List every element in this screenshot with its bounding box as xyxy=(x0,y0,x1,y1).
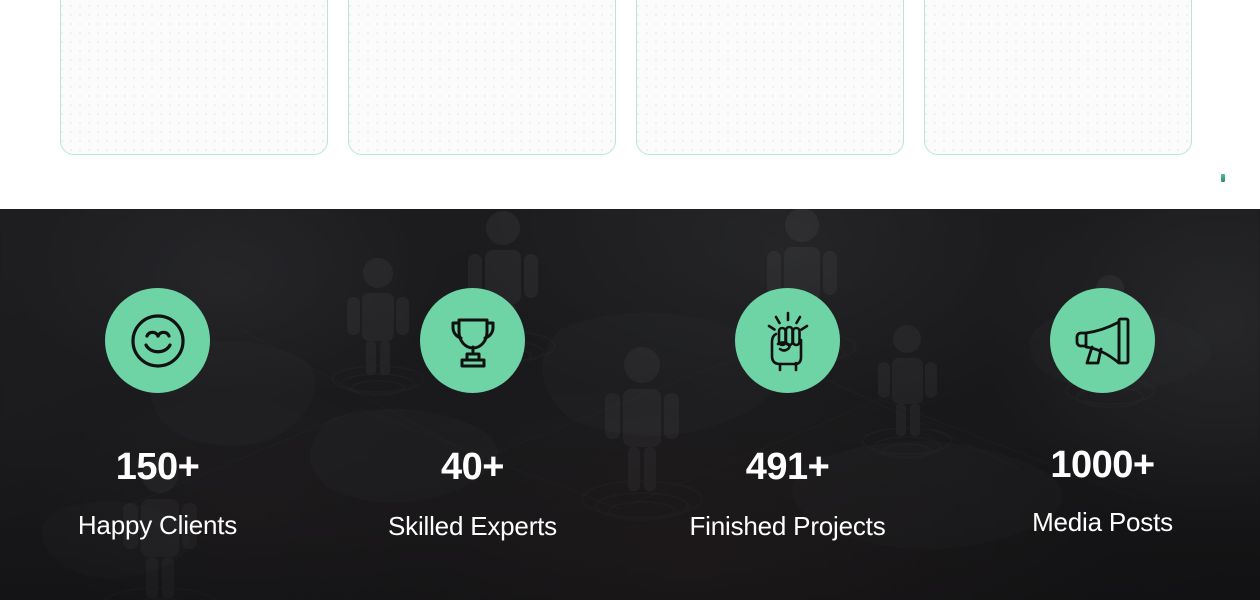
raised-fist-icon xyxy=(758,310,818,372)
trophy-icon xyxy=(442,310,504,372)
stats-section: 150+ Happy Clients xyxy=(0,209,1260,600)
feature-card-voice-broadcast[interactable]: Send pre-recorded voice messages; recipi… xyxy=(60,0,328,155)
stat-label: Skilled Experts xyxy=(388,513,557,539)
stat-icon-circle xyxy=(420,288,525,393)
stat-icon-circle xyxy=(105,288,210,393)
stats-row: 150+ Happy Clients xyxy=(0,209,1260,600)
stat-number: 150+ xyxy=(116,448,200,486)
stat-icon-circle xyxy=(1050,288,1155,393)
stat-label: Media Posts xyxy=(1032,509,1173,535)
stat-item-media-posts: 1000+ Media Posts xyxy=(945,209,1260,600)
page-root: Send pre-recorded voice messages; recipi… xyxy=(0,0,1260,600)
feature-cards-row: Send pre-recorded voice messages; recipi… xyxy=(60,0,1192,155)
feature-card-multichannel-dialing[interactable]: Reach out to a large-scale audience to m… xyxy=(348,0,616,155)
stat-label: Happy Clients xyxy=(78,512,237,538)
stat-icon-circle xyxy=(735,288,840,393)
features-section: Send pre-recorded voice messages; recipi… xyxy=(0,0,1260,209)
stat-item-happy-clients: 150+ Happy Clients xyxy=(0,209,315,600)
stat-number: 40+ xyxy=(441,448,504,486)
smiley-face-icon xyxy=(126,309,190,373)
feature-card-caller-id[interactable]: Display your brand name on Calls to cont… xyxy=(924,0,1192,155)
decorative-green-speck xyxy=(1221,174,1225,182)
stat-item-finished-projects: 491+ Finished Projects xyxy=(630,209,945,600)
feature-card-missed-call[interactable]: Cost-effective service on registered dia… xyxy=(636,0,904,155)
stat-number: 491+ xyxy=(746,448,830,486)
megaphone-icon xyxy=(1071,311,1135,371)
stat-item-skilled-experts: 40+ Skilled Experts xyxy=(315,209,630,600)
stat-label: Finished Projects xyxy=(689,513,885,539)
stat-number: 1000+ xyxy=(1050,446,1154,484)
